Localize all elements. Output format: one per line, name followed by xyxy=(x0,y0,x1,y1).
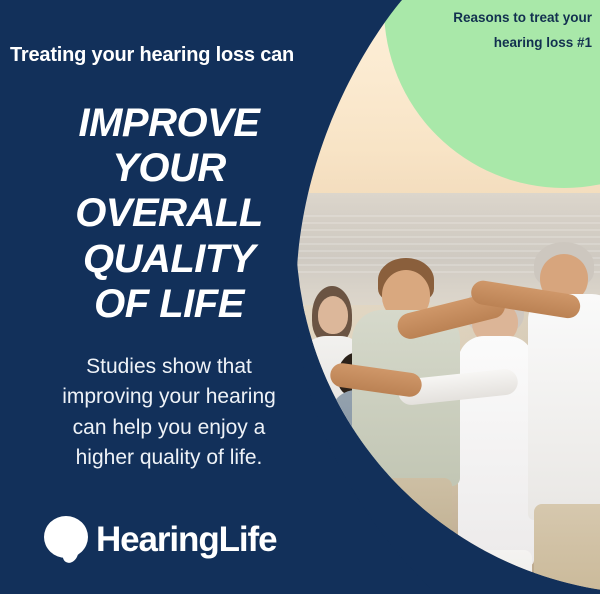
speech-bubble-tail xyxy=(61,543,81,563)
body-copy-line-4: higher quality of life. xyxy=(24,443,314,473)
headline-line-5: OF LIFE xyxy=(24,282,314,327)
poster-content: Reasons to treat your hearing loss #1 Tr… xyxy=(0,0,600,594)
body-copy-line-2: improving your hearing xyxy=(24,382,314,412)
headline-line-1: IMPROVE xyxy=(24,101,314,146)
reasons-badge-line-1: Reasons to treat your xyxy=(420,6,592,31)
hearinglife-wordmark: HearingLife xyxy=(96,522,276,557)
body-copy-line-3: can help you enjoy a xyxy=(24,413,314,443)
hearinglife-logo[interactable]: HearingLife xyxy=(44,516,276,563)
headline: IMPROVE YOUR OVERALL QUALITY OF LIFE xyxy=(24,101,314,327)
reasons-badge-line-2: hearing loss #1 xyxy=(420,31,592,56)
speech-bubble-icon xyxy=(44,516,88,563)
headline-line-3: OVERALL xyxy=(24,191,314,236)
reasons-badge: Reasons to treat your hearing loss #1 xyxy=(420,6,592,56)
headline-line-2: YOUR xyxy=(24,146,314,191)
poster-canvas: Reasons to treat your hearing loss #1 Tr… xyxy=(0,0,600,594)
eyebrow-text: Treating your hearing loss can xyxy=(10,43,350,68)
headline-line-4: QUALITY xyxy=(24,237,314,282)
body-copy-line-1: Studies show that xyxy=(24,352,314,382)
body-copy: Studies show that improving your hearing… xyxy=(24,352,314,474)
